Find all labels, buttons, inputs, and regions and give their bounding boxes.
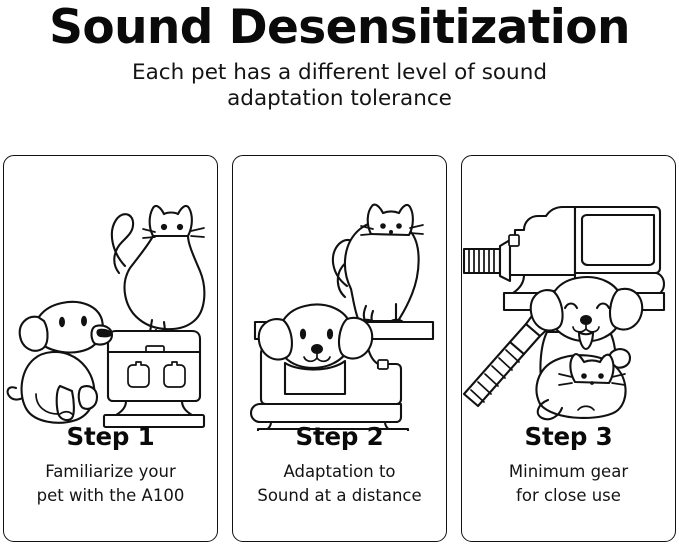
illustration-step-3 bbox=[462, 156, 675, 431]
page-title: Sound Desensitization bbox=[0, 0, 679, 54]
step-card-3[interactable]: Step 3 Minimum gear for close use bbox=[461, 155, 676, 542]
step-card-1[interactable]: Step 1 Familiarize your pet with the A10… bbox=[3, 155, 218, 542]
subtitle-line-1: Each pet has a different level of sound bbox=[0, 60, 679, 86]
illustration-step-1 bbox=[4, 156, 217, 431]
step-description-1-line-2: pet with the A100 bbox=[4, 484, 217, 508]
step-label-2: Step 2 bbox=[233, 422, 446, 452]
step-description-2: Adaptation to Sound at a distance bbox=[233, 452, 446, 508]
step-description-1: Familiarize your pet with the A100 bbox=[4, 452, 217, 508]
caption-step-2: Step 2 Adaptation to Sound at a distance bbox=[233, 422, 446, 508]
caption-step-1: Step 1 Familiarize your pet with the A10… bbox=[4, 422, 217, 508]
step-description-1-line-1: Familiarize your bbox=[4, 460, 217, 484]
step-description-3-line-1: Minimum gear bbox=[462, 460, 675, 484]
header: Sound Desensitization Each pet has a dif… bbox=[0, 0, 679, 112]
page-subtitle: Each pet has a different level of sound … bbox=[0, 54, 679, 112]
step-description-2-line-1: Adaptation to bbox=[233, 460, 446, 484]
infographic-page: Sound Desensitization Each pet has a dif… bbox=[0, 0, 679, 546]
caption-step-3: Step 3 Minimum gear for close use bbox=[462, 422, 675, 508]
step-description-3-line-2: for close use bbox=[462, 484, 675, 508]
step-card-2[interactable]: Step 2 Adaptation to Sound at a distance bbox=[232, 155, 447, 542]
step-label-3: Step 3 bbox=[462, 422, 675, 452]
step-description-3: Minimum gear for close use bbox=[462, 452, 675, 508]
illustration-step-2 bbox=[233, 156, 446, 431]
step-card-list: Step 1 Familiarize your pet with the A10… bbox=[3, 155, 676, 542]
step-description-2-line-2: Sound at a distance bbox=[233, 484, 446, 508]
step-label-1: Step 1 bbox=[4, 422, 217, 452]
subtitle-line-2: adaptation tolerance bbox=[0, 86, 679, 112]
